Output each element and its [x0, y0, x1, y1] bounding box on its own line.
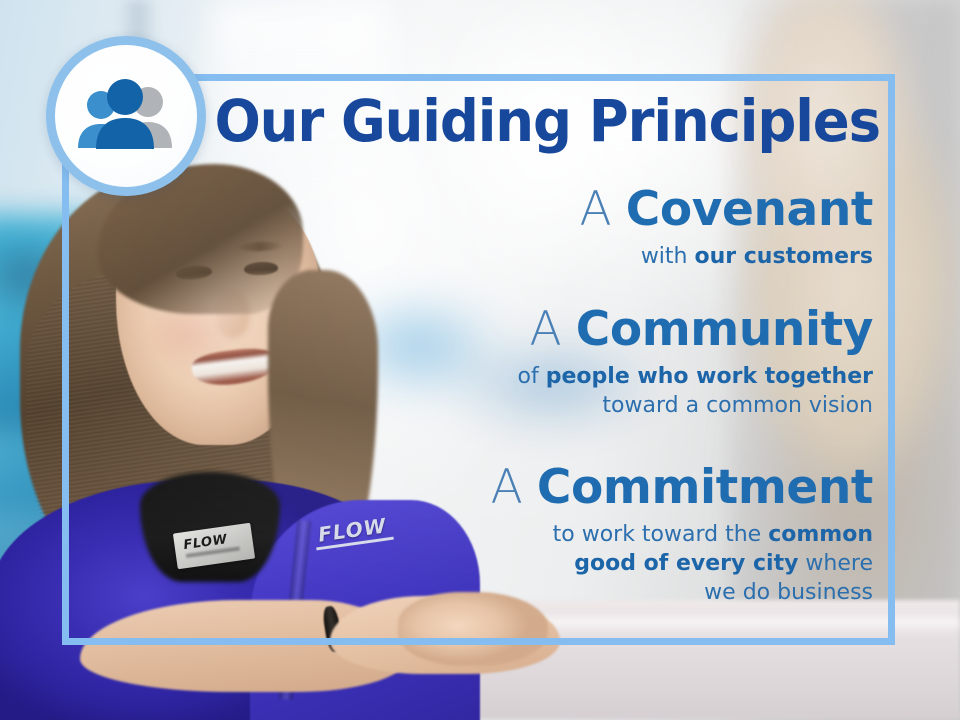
principle-commitment-subtext: to work toward the common good of every …: [62, 520, 873, 608]
principle-commitment-sub-line-1: to work toward the common: [62, 520, 873, 549]
principle-community: A Community of people who work together …: [62, 304, 895, 420]
principle-commitment-word: Commitment: [537, 460, 873, 515]
principle-community-sub-line-2: toward a common vision: [62, 391, 873, 420]
principle-covenant-subtext: with our customers: [62, 242, 873, 271]
principle-community-word: Community: [576, 302, 873, 357]
poster-text-content: Our Guiding Principles A Covenant with o…: [62, 74, 895, 645]
principle-community-subtext: of people who work together toward a com…: [62, 362, 873, 421]
principle-commitment-sub-plain-1: to work toward the: [553, 522, 769, 547]
principle-commitment-sub-plain-2: where: [798, 551, 873, 576]
principle-covenant-sub-plain: with: [641, 244, 695, 269]
principle-commitment: A Commitment to work toward the common g…: [62, 462, 895, 608]
principle-commitment-sub-bold-1: common: [768, 522, 873, 547]
principle-commitment-sub-line-2: good of every city where: [62, 549, 873, 578]
principle-commitment-sub-line-3: we do business: [62, 578, 873, 607]
principle-community-article: A: [529, 302, 575, 357]
principle-covenant-article: A: [580, 182, 626, 237]
page-title: Our Guiding Principles: [112, 92, 895, 150]
principle-community-title: A Community: [62, 304, 873, 355]
principle-covenant: A Covenant with our customers: [62, 184, 895, 271]
principle-community-sub-bold-1: people who work together: [546, 364, 873, 389]
guiding-principles-poster: FLOW FLOW: [0, 0, 960, 720]
principle-covenant-title: A Covenant: [62, 184, 873, 235]
principle-commitment-article: A: [491, 460, 537, 515]
principle-covenant-sub-bold: our customers: [694, 244, 873, 269]
principle-commitment-title: A Commitment: [62, 462, 873, 513]
principle-covenant-word: Covenant: [626, 182, 873, 237]
principle-commitment-sub-bold-2: good of every city: [574, 551, 798, 576]
principle-community-sub-plain-1: of: [518, 364, 546, 389]
principle-community-sub-line-1: of people who work together: [62, 362, 873, 391]
